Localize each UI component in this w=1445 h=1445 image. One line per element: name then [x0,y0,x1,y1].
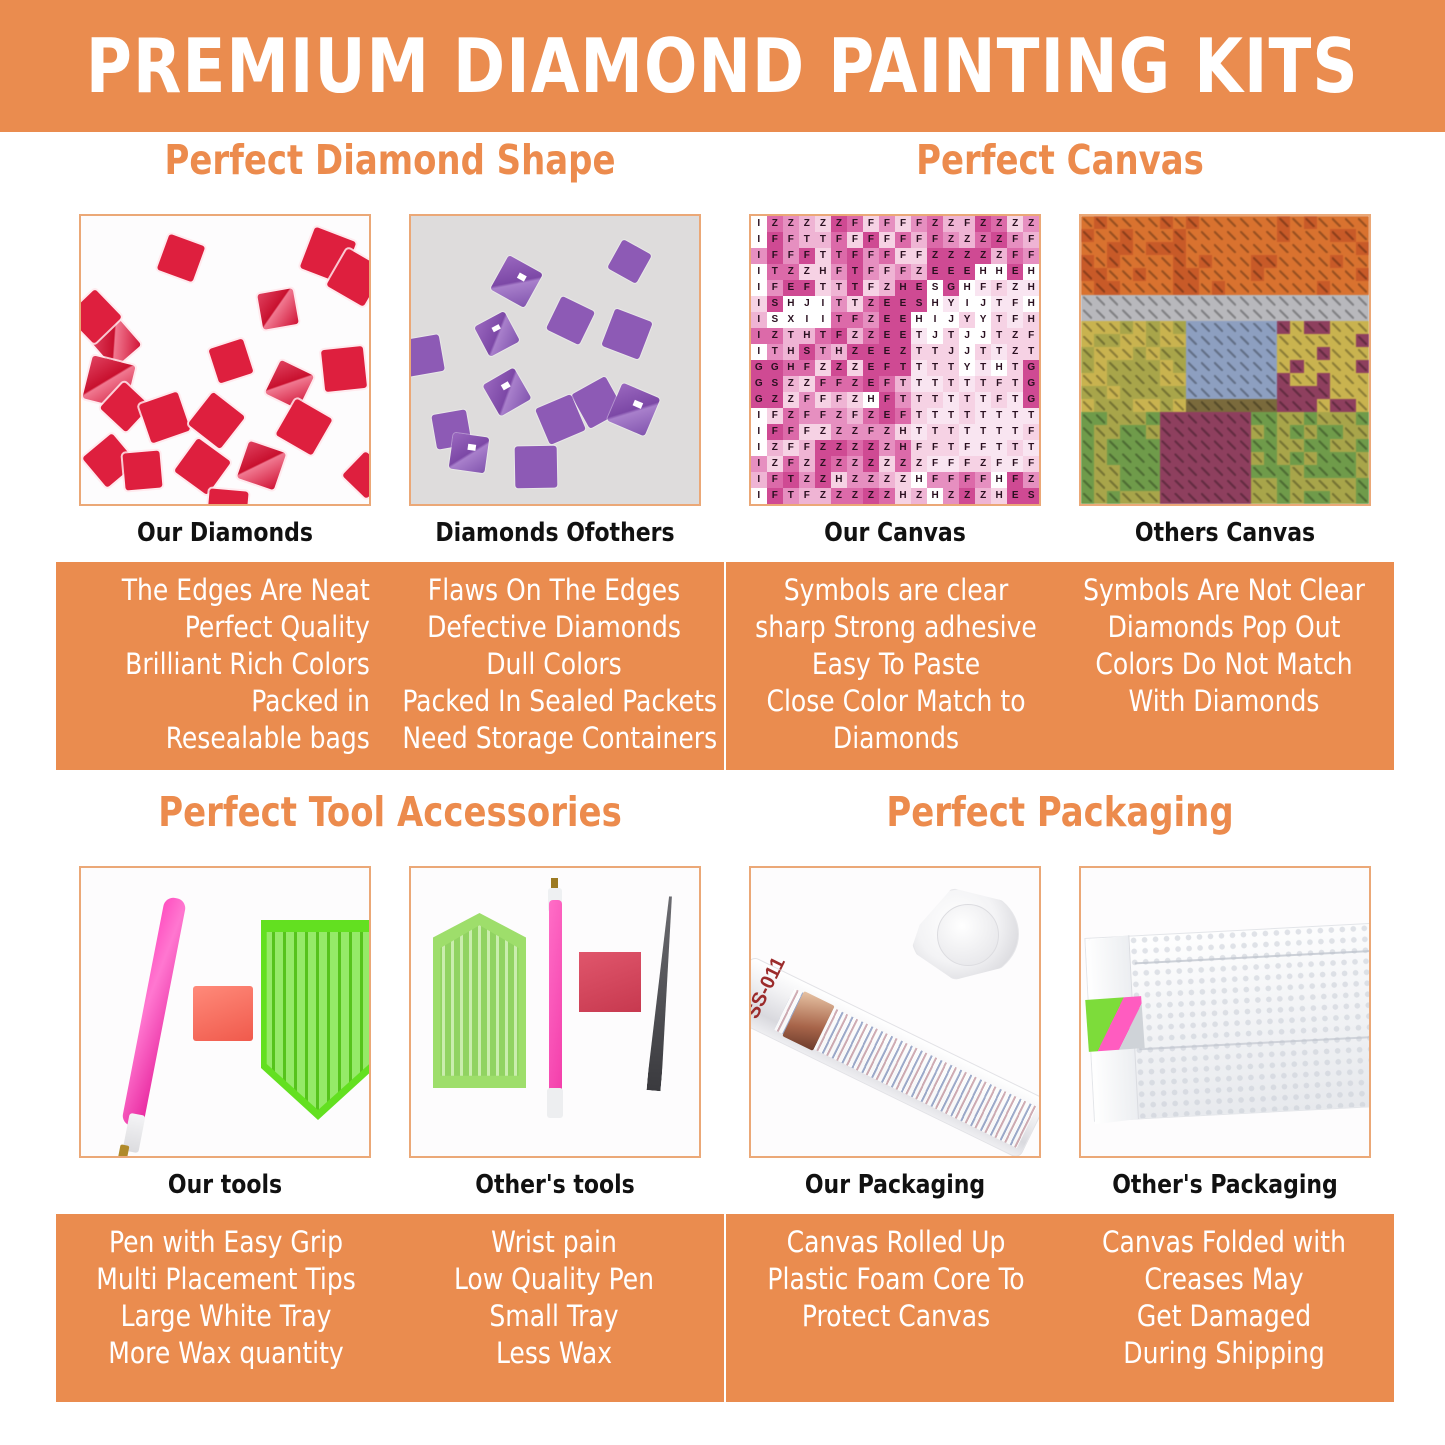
canvas-symbol-cell: T [815,248,831,264]
fact-line: Symbols Are Not Clear [1072,572,1375,609]
canvas-pixel-cell [1304,281,1317,294]
canvas-symbol-cell: T [831,312,847,328]
canvas-pixel-cell [1173,373,1186,386]
section-diamond-shape: Perfect Diamond Shape Our Diamonds Diamo… [56,140,724,770]
canvas-pixel-cell [1264,478,1277,491]
canvas-symbol-cell: F [767,472,783,488]
canvas-pixel-cell [1277,425,1290,438]
canvas-pixel-cell [1094,347,1107,360]
canvas-symbol-cell: Z [895,344,911,360]
canvas-pixel-cell [1133,295,1146,308]
canvas-pixel-cell [1146,281,1159,294]
canvas-symbol-cell: E [1007,264,1023,280]
canvas-pixel-cell [1133,491,1146,504]
canvas-pixel-cell [1330,308,1343,321]
canvas-pixel-cell [1081,478,1094,491]
canvas-pixel-cell [1304,308,1317,321]
canvas-pixel-cell [1146,439,1159,452]
canvas-pixel-cell [1212,478,1225,491]
canvas-pixel-cell [1290,439,1303,452]
canvas-symbol-cell: E [895,328,911,344]
canvas-pixel-cell [1264,452,1277,465]
canvas-symbol-cell: Z [767,440,783,456]
canvas-symbol-cell: H [991,264,1007,280]
diamond-drill [206,488,248,506]
canvas-symbol-cell: G [751,392,767,408]
canvas-pixel-cell [1264,281,1277,294]
panel-row [56,214,724,506]
canvas-symbol-cell: I [751,456,767,472]
canvas-pixel-cell [1264,295,1277,308]
canvas-pixel-cell [1290,491,1303,504]
canvas-symbol-cell: Z [911,264,927,280]
canvas-symbol-cell: F [863,232,879,248]
canvas-symbol-cell: T [895,360,911,376]
canvas-pixel-cell [1290,255,1303,268]
canvas-pixel-cell [1160,308,1173,321]
caption-row: Our Packaging Other's Packaging [726,1170,1394,1200]
canvas-pixel-cell [1160,334,1173,347]
canvas-pixel-cell [1251,216,1264,229]
canvas-pixel-cell [1146,360,1159,373]
canvas-symbol-cell: F [847,232,863,248]
canvas-symbol-cell: Z [847,488,863,504]
canvas-pixel-cell [1186,399,1199,412]
canvas-pixel-cell [1173,229,1186,242]
section-packaging: Perfect Packaging SS-011 [726,792,1394,1402]
canvas-symbol-cell: J [975,328,991,344]
canvas-symbol-cell: T [975,408,991,424]
canvas-pixel-cell [1173,386,1186,399]
canvas-pixel-cell [1173,216,1186,229]
canvas-symbol-cell: T [847,280,863,296]
canvas-symbol-cell: F [991,392,1007,408]
canvas-pixel-cell [1173,425,1186,438]
canvas-symbol-cell: F [799,280,815,296]
canvas-pixel-cell [1356,268,1369,281]
thin-pink-pen-icon [549,900,562,1115]
canvas-pixel-cell [1160,465,1173,478]
panel-row: IZZZZZFFFFFZZFZZZZIFFTTFFFFFFFZZZZFFIFFF… [726,214,1394,506]
canvas-symbol-cell: T [831,296,847,312]
canvas-pixel-cell [1173,281,1186,294]
canvas-pixel-cell [1343,465,1356,478]
canvas-symbol-cell: E [927,264,943,280]
canvas-pixel-cell [1304,268,1317,281]
canvas-pixel-cell [1277,412,1290,425]
canvas-symbol-cell: Z [815,488,831,504]
canvas-symbol-cell: F [767,232,783,248]
canvas-pixel-cell [1277,478,1290,491]
canvas-pixel-cell [1304,347,1317,360]
canvas-symbol-cell: Z [879,488,895,504]
canvas-pixel-cell [1251,491,1264,504]
canvas-symbol-cell: T [975,424,991,440]
canvas-pixel-cell [1343,268,1356,281]
canvas-symbol-cell: Z [863,488,879,504]
canvas-pixel-cell [1199,425,1212,438]
canvas-pixel-cell [1107,321,1120,334]
canvas-pixel-cell [1094,425,1107,438]
canvas-pixel-cell [1120,360,1133,373]
canvas-pixel-cell [1343,412,1356,425]
wax-square-icon [193,986,253,1041]
canvas-pixel-cell [1317,295,1330,308]
canvas-pixel-cell [1238,425,1251,438]
panel-our-tools [79,866,371,1158]
canvas-symbol-cell: F [799,392,815,408]
canvas-pixel-cell [1343,216,1356,229]
canvas-pixel-cell [1094,229,1107,242]
canvas-pixel-cell [1094,386,1107,399]
canvas-symbol-cell: Z [783,376,799,392]
canvas-pixel-cell [1304,465,1317,478]
canvas-pixel-cell [1238,478,1251,491]
fact-line: Easy To Paste [744,646,1047,683]
canvas-pixel-cell [1107,412,1120,425]
canvas-pixel-cell [1290,347,1303,360]
canvas-pixel-cell [1356,242,1369,255]
canvas-pixel-cell [1107,465,1120,478]
canvas-pixel-cell [1081,386,1094,399]
canvas-symbol-cell: F [879,232,895,248]
canvas-symbol-cell: H [991,472,1007,488]
factcol-ours: Pen with Easy GripMulti Placement TipsLa… [62,1224,390,1390]
canvas-pixel-cell [1081,321,1094,334]
canvas-pixel-cell [1304,386,1317,399]
canvas-symbol-cell: T [959,408,975,424]
canvas-pixel-cell [1133,439,1146,452]
canvas-symbol-cell: Z [783,408,799,424]
canvas-symbol-cell: E [863,360,879,376]
canvas-symbol-cell: T [975,360,991,376]
canvas-pixel-cell [1081,360,1094,373]
canvas-pixel-cell [1304,216,1317,229]
canvas-symbol-cell: F [847,312,863,328]
canvas-pixel-cell [1133,465,1146,478]
canvas-pixel-cell [1199,412,1212,425]
canvas-pixel-cell [1173,478,1186,491]
canvas-symbol-cell: E [879,328,895,344]
diamond-drill [514,446,557,489]
canvas-pixel-cell [1304,295,1317,308]
canvas-pixel-cell [1304,360,1317,373]
canvas-pixel-cell [1356,373,1369,386]
canvas-symbol-cell: F [943,456,959,472]
canvas-pixel-cell [1225,347,1238,360]
canvas-symbol-cell: Z [927,248,943,264]
canvas-symbol-cell: F [991,456,1007,472]
blurry-canvas-art [1081,216,1369,504]
canvas-pixel-cell [1094,412,1107,425]
canvas-symbol-cell: F [863,280,879,296]
canvas-pixel-cell [1133,321,1146,334]
canvas-symbol-cell: I [751,488,767,504]
canvas-pixel-cell [1186,229,1199,242]
canvas-pixel-cell [1343,281,1356,294]
canvas-pixel-cell [1356,255,1369,268]
canvas-pixel-cell [1094,321,1107,334]
caption-our-packaging: Our Packaging [758,1170,1032,1200]
canvas-symbol-cell: F [1023,232,1039,248]
caption-row: Our Canvas Others Canvas [726,518,1394,548]
canvas-symbol-cell: S [927,280,943,296]
canvas-pixel-cell [1225,425,1238,438]
canvas-pixel-cell [1081,439,1094,452]
canvas-pixel-cell [1225,386,1238,399]
canvas-symbol-cell: I [751,264,767,280]
canvas-symbol-cell: F [895,248,911,264]
canvas-symbol-cell: I [927,312,943,328]
canvas-symbol-cell: I [751,232,767,248]
canvas-symbol-cell: F [879,248,895,264]
canvas-pixel-cell [1120,255,1133,268]
canvas-pixel-cell [1290,321,1303,334]
canvas-pixel-cell [1133,255,1146,268]
canvas-symbol-cell: Z [959,488,975,504]
canvas-pixel-cell [1160,491,1173,504]
canvas-pixel-cell [1081,308,1094,321]
canvas-symbol-cell: Z [863,440,879,456]
canvas-symbol-cell: Z [895,472,911,488]
canvas-pixel-cell [1225,491,1238,504]
canvas-pixel-cell [1225,478,1238,491]
canvas-pixel-cell [1160,439,1173,452]
canvas-symbol-cell: F [991,280,1007,296]
factcol-ours: The Edges Are NeatPerfect QualityBrillia… [62,572,390,758]
canvas-symbol-cell: Z [991,248,1007,264]
canvas-pixel-cell [1330,399,1343,412]
canvas-pixel-cell [1304,242,1317,255]
canvas-pixel-cell [1107,439,1120,452]
canvas-symbol-cell: Z [879,472,895,488]
canvas-symbol-cell: E [863,344,879,360]
canvas-symbol-cell: E [783,280,799,296]
canvas-symbol-cell: Z [783,264,799,280]
canvas-symbol-cell: Z [863,296,879,312]
canvas-pixel-cell [1277,491,1290,504]
canvas-symbol-cell: Z [1007,280,1023,296]
canvas-pixel-cell [1356,334,1369,347]
canvas-pixel-cell [1094,452,1107,465]
canvas-symbol-cell: T [911,408,927,424]
canvas-symbol-cell: S [799,344,815,360]
canvas-symbol-cell: H [991,488,1007,504]
canvas-pixel-cell [1173,321,1186,334]
canvas-symbol-cell: T [831,248,847,264]
canvas-symbol-cell: F [975,440,991,456]
canvas-pixel-cell [1199,242,1212,255]
canvas-symbol-cell: Z [943,232,959,248]
canvas-symbol-cell: T [1023,440,1039,456]
canvas-pixel-cell [1173,452,1186,465]
canvas-symbol-cell: T [1007,408,1023,424]
canvas-symbol-cell: T [1007,360,1023,376]
canvas-pixel-cell [1212,439,1225,452]
canvas-pixel-cell [1225,412,1238,425]
canvas-pixel-cell [1094,255,1107,268]
tube-cap-inner-icon [937,904,999,966]
canvas-pixel-cell [1120,386,1133,399]
canvas-symbol-cell: F [831,376,847,392]
canvas-pixel-cell [1225,334,1238,347]
canvas-symbol-cell: F [959,216,975,232]
canvas-symbol-cell: T [911,344,927,360]
fact-line: sharp Strong adhesive [744,609,1047,646]
canvas-pixel-cell [1107,399,1120,412]
canvas-pixel-cell [1225,229,1238,242]
canvas-pixel-cell [1251,281,1264,294]
canvas-pixel-cell [1186,412,1199,425]
canvas-symbol-cell: Z [799,264,815,280]
canvas-symbol-cell: H [927,488,943,504]
fact-line: Colors Do Not Match [1072,646,1375,683]
canvas-symbol-cell: I [751,328,767,344]
canvas-pixel-cell [1146,465,1159,478]
canvas-pixel-cell [1107,308,1120,321]
canvas-symbol-cell: Z [1007,328,1023,344]
canvas-pixel-cell [1277,321,1290,334]
canvas-pixel-cell [1107,452,1120,465]
canvas-symbol-cell: Z [831,488,847,504]
factbox-canvas: Symbols are clearsharp Strong adhesiveEa… [726,562,1394,770]
canvas-pixel-cell [1238,491,1251,504]
canvas-pixel-cell [1212,281,1225,294]
canvas-pixel-cell [1317,439,1330,452]
canvas-pixel-cell [1212,216,1225,229]
canvas-symbol-cell: J [927,328,943,344]
panel-our-canvas: IZZZZZFFFFFZZFZZZZIFFTTFFFFFFFZZZZFFIFFF… [749,214,1041,506]
canvas-symbol-cell: Z [975,248,991,264]
canvas-symbol-cell: H [991,360,1007,376]
canvas-symbol-cell: T [959,392,975,408]
canvas-pixel-cell [1290,399,1303,412]
canvas-pixel-cell [1081,334,1094,347]
canvas-pixel-cell [1238,295,1251,308]
canvas-pixel-cell [1146,334,1159,347]
section-title: Perfect Tool Accessories [83,792,698,850]
canvas-symbol-cell: Z [847,392,863,408]
canvas-pixel-cell [1094,216,1107,229]
canvas-symbol-cell: F [879,264,895,280]
canvas-pixel-cell [1133,281,1146,294]
canvas-symbol-cell: T [815,280,831,296]
canvas-symbol-cell: G [943,280,959,296]
canvas-pixel-cell [1133,360,1146,373]
caption-our-diamonds: Our Diamonds [88,518,362,548]
canvas-pixel-cell [1225,295,1238,308]
canvas-pixel-cell [1251,295,1264,308]
canvas-symbol-cell: T [943,376,959,392]
canvas-pixel-cell [1251,439,1264,452]
canvas-pixel-cell [1186,295,1199,308]
canvas-pixel-cell [1343,229,1356,242]
canvas-pixel-cell [1160,373,1173,386]
canvas-pixel-cell [1238,268,1251,281]
canvas-pixel-cell [1277,255,1290,268]
canvas-symbol-cell: F [927,440,943,456]
canvas-pixel-cell [1120,347,1133,360]
canvas-pixel-cell [1186,268,1199,281]
canvas-pixel-cell [1290,465,1303,478]
canvas-pixel-cell [1120,491,1133,504]
canvas-pixel-cell [1173,295,1186,308]
canvas-symbol-cell: Z [847,456,863,472]
canvas-pixel-cell [1343,308,1356,321]
canvas-pixel-cell [1225,281,1238,294]
canvas-pixel-cell [1277,373,1290,386]
canvas-pixel-cell [1160,412,1173,425]
canvas-pixel-cell [1120,242,1133,255]
canvas-symbol-cell: S [1023,488,1039,504]
canvas-symbol-cell: T [911,376,927,392]
canvas-symbol-cell: T [911,392,927,408]
canvas-pixel-cell [1212,321,1225,334]
canvas-symbol-cell: F [1007,248,1023,264]
canvas-symbol-cell: J [959,328,975,344]
canvas-symbol-cell: Z [847,424,863,440]
canvas-pixel-cell [1290,386,1303,399]
canvas-pixel-cell [1264,308,1277,321]
canvas-symbol-cell: Z [815,472,831,488]
canvas-pixel-cell [1251,452,1264,465]
canvas-pixel-cell [1251,268,1264,281]
canvas-pixel-cell [1343,439,1356,452]
fact-line: Canvas Rolled Up [744,1224,1047,1261]
canvas-pixel-cell [1199,478,1212,491]
canvas-symbol-cell: Z [767,392,783,408]
canvas-symbol-cell: Z [847,472,863,488]
canvas-pixel-cell [1264,386,1277,399]
canvas-symbol-cell: T [927,344,943,360]
canvas-pixel-cell [1317,412,1330,425]
canvas-symbol-cell: F [767,408,783,424]
canvas-pixel-cell [1264,242,1277,255]
canvas-symbol-cell: F [959,472,975,488]
canvas-symbol-cell: J [975,296,991,312]
canvas-symbol-cell: S [767,296,783,312]
canvas-symbol-cell: I [751,408,767,424]
canvas-pixel-cell [1199,295,1212,308]
canvas-pixel-cell [1343,478,1356,491]
canvas-pixel-cell [1251,255,1264,268]
canvas-pixel-cell [1330,216,1343,229]
canvas-symbol-cell: Z [1007,344,1023,360]
panel-others-canvas [1079,214,1371,506]
canvas-pixel-cell [1264,321,1277,334]
canvas-pixel-cell [1186,386,1199,399]
canvas-pixel-cell [1199,216,1212,229]
canvas-pixel-cell [1304,399,1317,412]
canvas-pixel-cell [1199,229,1212,242]
canvas-pixel-cell [1238,386,1251,399]
wax-square-icon [579,952,641,1012]
facet-highlight [501,382,511,391]
canvas-symbol-cell: F [1007,472,1023,488]
canvas-symbol-cell: T [815,344,831,360]
canvas-pixel-cell [1277,308,1290,321]
canvas-symbol-cell: Z [863,472,879,488]
canvas-pixel-cell [1160,347,1173,360]
canvas-pixel-cell [1173,412,1186,425]
mailer-contents-peek [1085,996,1144,1052]
canvas-pixel-cell [1290,229,1303,242]
canvas-pixel-cell [1133,478,1146,491]
panel-other-packaging [1079,866,1371,1158]
canvas-symbol-cell: F [799,488,815,504]
canvas-symbol-cell: Z [799,456,815,472]
canvas-symbol-cell: T [847,296,863,312]
